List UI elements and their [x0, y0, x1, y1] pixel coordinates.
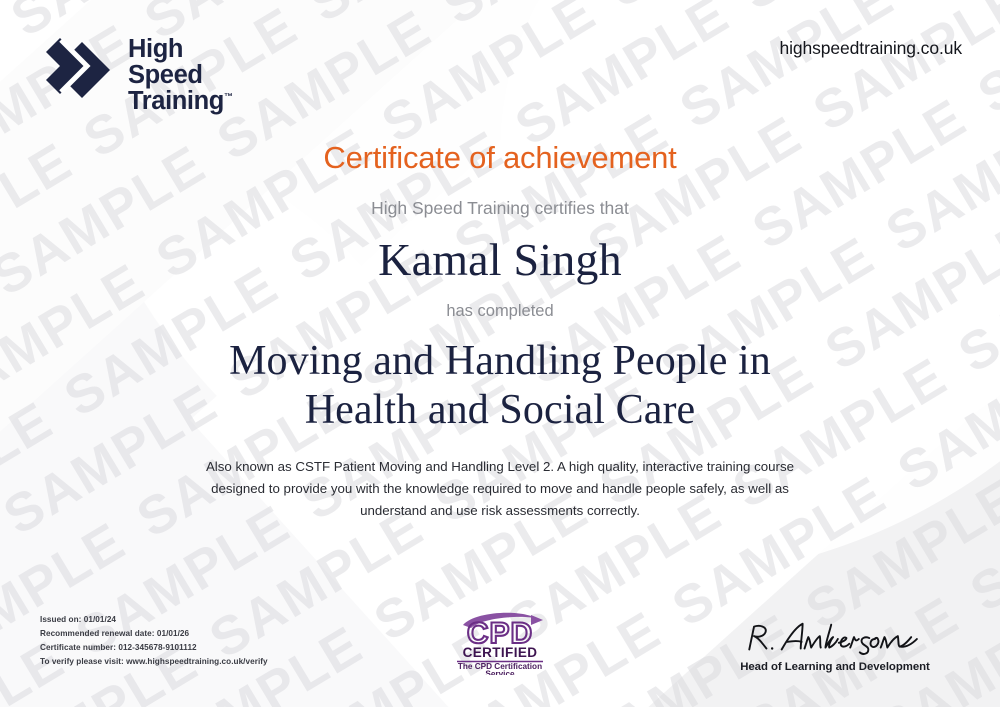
renewal-date: Recommended renewal date: 01/01/26: [40, 627, 268, 641]
signatory-role: Head of Learning and Development: [710, 661, 960, 673]
course-title: Moving and Handling People in Health and…: [150, 337, 850, 434]
brand-word-high: High: [128, 36, 233, 62]
svg-text:CERTIFIED: CERTIFIED: [463, 645, 538, 660]
issued-on: Issued on: 01/01/24: [40, 613, 268, 627]
site-url: highspeedtraining.co.uk: [779, 38, 962, 59]
double-chevron-right-icon: [42, 38, 114, 112]
course-title-line-1: Moving and Handling People in: [229, 338, 771, 384]
cpd-certified-badge: CPD CERTIFIED The CPD Certification Serv…: [440, 609, 560, 675]
brand-wordmark: High Speed Training™: [128, 36, 233, 114]
cpd-logo-icon: CPD CERTIFIED The CPD Certification Serv…: [445, 609, 555, 675]
certifies-line: High Speed Training certifies that: [0, 198, 1000, 219]
brand-logo: High Speed Training™: [42, 36, 233, 114]
course-title-line-2: Health and Social Care: [305, 387, 696, 433]
certificate-page: SAMPLESAMPLESAMPLESAMPLESAMPLESAMPLESAMP…: [0, 0, 1000, 707]
certificate-body: Certificate of achievement High Speed Tr…: [0, 140, 1000, 521]
course-description: Also known as CSTF Patient Moving and Ha…: [190, 456, 810, 521]
cpd-service-line-2: Service: [485, 670, 515, 676]
certificate-metadata: Issued on: 01/01/24 Recommended renewal …: [40, 613, 268, 669]
handwritten-signature: [735, 619, 935, 659]
trademark-symbol: ™: [224, 92, 233, 102]
verify-line: To verify please visit: www.highspeedtra…: [40, 655, 268, 669]
has-completed-line: has completed: [0, 302, 1000, 321]
learner-name: Kamal Singh: [0, 233, 1000, 286]
certificate-title: Certificate of achievement: [0, 140, 1000, 176]
certificate-number: Certificate number: 012-345678-9101112: [40, 641, 268, 655]
brand-word-training: Training™: [128, 88, 233, 114]
signature-block: Head of Learning and Development: [710, 619, 960, 673]
brand-word-speed: Speed: [128, 62, 233, 88]
